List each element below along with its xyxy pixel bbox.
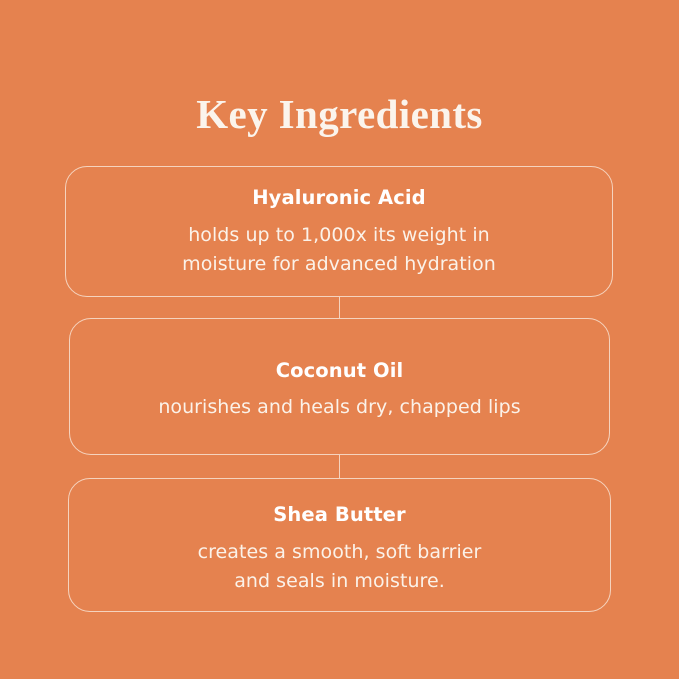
ingredient-card-body-line: nourishes and heals dry, chapped lips (70, 393, 609, 422)
ingredient-card-heading: Hyaluronic Acid (66, 186, 612, 210)
ingredient-card-body-line: holds up to 1,000x its weight in (66, 221, 612, 250)
ingredient-card-hyaluronic-acid: Hyaluronic Acid holds up to 1,000x its w… (65, 166, 613, 297)
ingredient-card-heading: Shea Butter (69, 503, 610, 527)
ingredient-card-shea-butter: Shea Butter creates a smooth, soft barri… (68, 478, 611, 612)
connector-line (339, 455, 340, 478)
ingredient-card-body-line: and seals in moisture. (69, 567, 610, 596)
ingredient-card-body-line: moisture for advanced hydration (66, 250, 612, 279)
ingredient-card-body: nourishes and heals dry, chapped lips (70, 393, 609, 422)
ingredient-card-body: creates a smooth, soft barrier and seals… (69, 538, 610, 596)
ingredient-card-body: holds up to 1,000x its weight in moistur… (66, 221, 612, 279)
ingredient-card-body-line: creates a smooth, soft barrier (69, 538, 610, 567)
connector-line (339, 297, 340, 318)
ingredient-card-coconut-oil: Coconut Oil nourishes and heals dry, cha… (69, 318, 610, 455)
ingredient-card-stack: Hyaluronic Acid holds up to 1,000x its w… (0, 0, 679, 679)
key-ingredients-infographic: Key Ingredients Hyaluronic Acid holds up… (0, 0, 679, 679)
ingredient-card-heading: Coconut Oil (70, 359, 609, 383)
